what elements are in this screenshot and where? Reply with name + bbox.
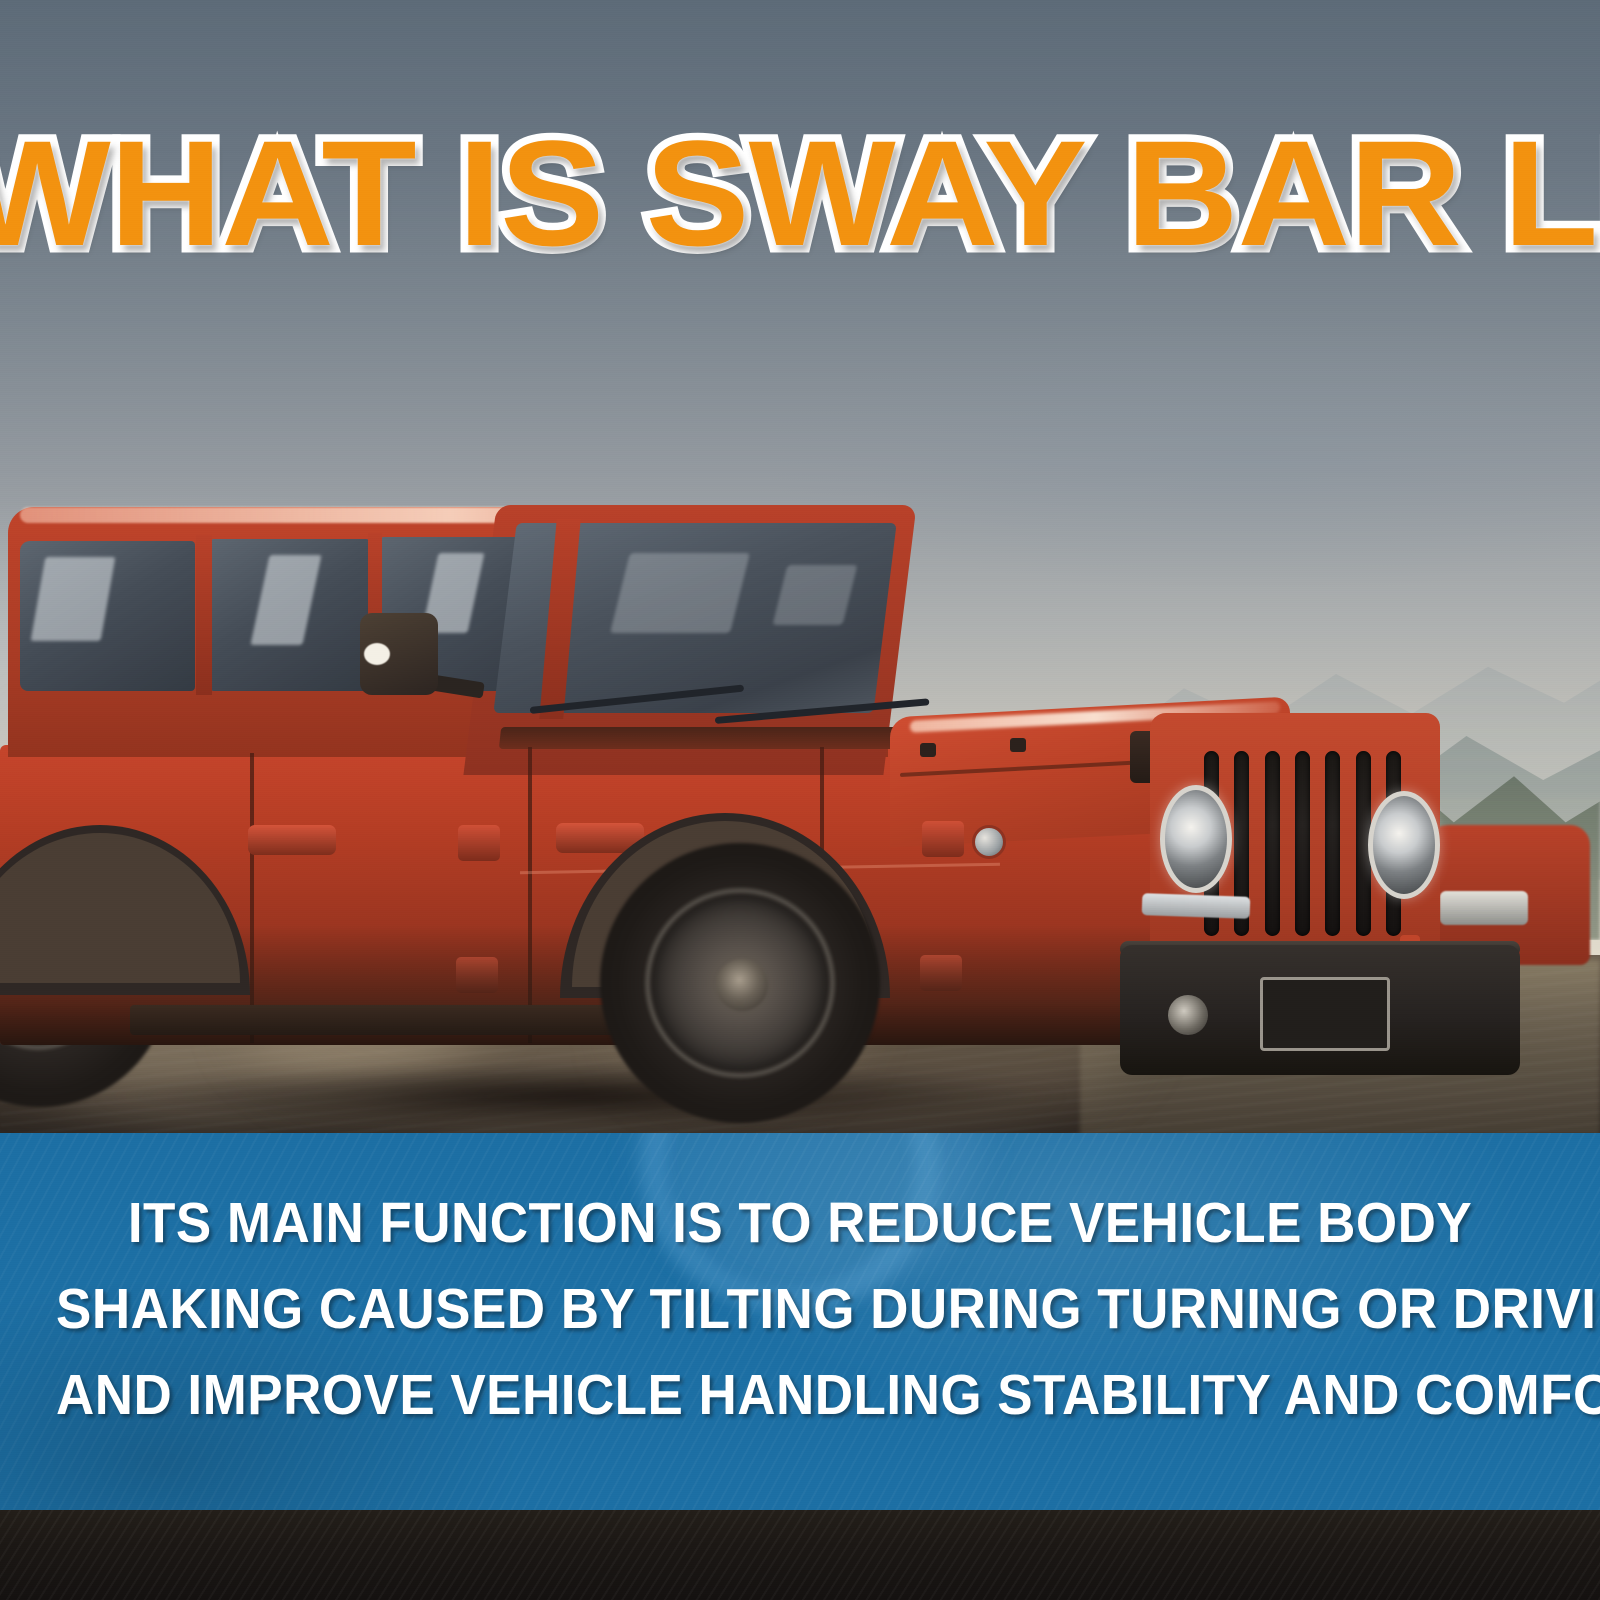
vehicle-shadow — [0, 1051, 1230, 1133]
grille-slot — [1325, 751, 1340, 936]
glass-reflection — [31, 557, 116, 641]
footer-band — [0, 1510, 1600, 1600]
far-headlamp-icon — [1440, 891, 1528, 925]
jeep-wrangler-illustration — [0, 495, 1360, 1133]
left-headlamp-icon — [1160, 785, 1232, 893]
rear-door-handle-icon — [248, 825, 336, 855]
fuel-cap-icon — [972, 825, 1006, 859]
grille-slot — [1265, 751, 1280, 936]
caption-line-3: AND IMPROVE VEHICLE HANDLING STABILITY A… — [56, 1357, 1544, 1433]
cowl-panel — [499, 727, 941, 749]
caption-line-1: ITS MAIN FUNCTION IS TO REDUCE VEHICLE B… — [56, 1185, 1544, 1261]
caption-panel: ITS MAIN FUNCTION IS TO REDUCE VEHICLE B… — [0, 1133, 1600, 1510]
footer-band-texture — [0, 1510, 1600, 1600]
caption-line-2: SHAKING CAUSED BY TILTING DURING TURNING… — [56, 1271, 1544, 1347]
glass-reflection — [773, 565, 858, 625]
page-title: WHAT IS SWAY BAR LINK — [0, 118, 1600, 268]
promo-banner: WHAT IS SWAY BAR LINK ITS MAIN FUNCTION … — [0, 0, 1600, 1600]
b-pillar — [196, 535, 212, 695]
mirror-glint — [364, 643, 390, 665]
glass-reflection — [610, 553, 750, 633]
door-hinge-icon — [458, 825, 500, 861]
headline-container: WHAT IS SWAY BAR LINK — [0, 118, 1600, 268]
door-hinge-icon — [922, 821, 964, 857]
hood-latch-icon — [1010, 738, 1026, 752]
fog-lamp-icon — [1168, 995, 1208, 1035]
grille-slot — [1295, 751, 1310, 936]
front-hub — [716, 959, 768, 1011]
right-headlamp-icon — [1368, 791, 1440, 899]
turn-signal-icon — [1142, 893, 1251, 919]
hood-latch-icon — [920, 743, 936, 757]
license-plate-holder — [1260, 977, 1390, 1051]
caption-text-block: ITS MAIN FUNCTION IS TO REDUCE VEHICLE B… — [0, 1133, 1600, 1433]
